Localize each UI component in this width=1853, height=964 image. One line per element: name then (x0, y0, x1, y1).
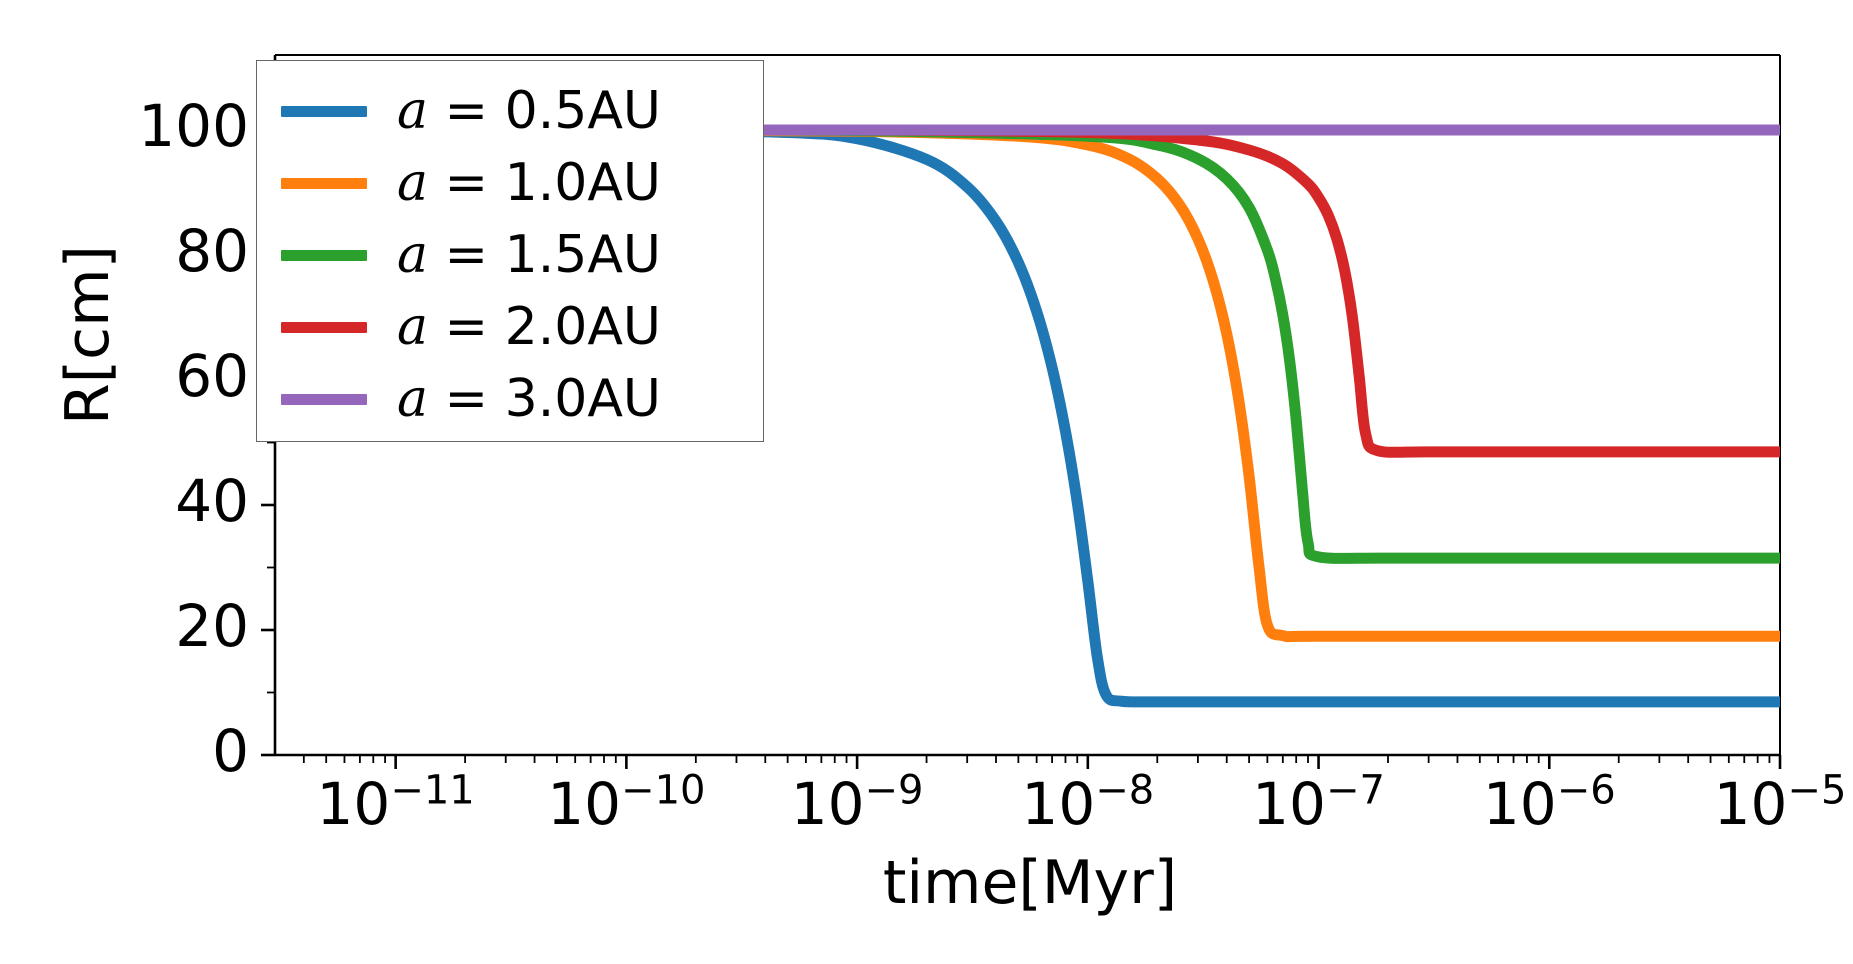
legend-variable: a (397, 297, 428, 357)
legend-label: a = 0.5AU (397, 81, 661, 141)
legend-color-swatch (281, 250, 367, 261)
legend-color-swatch (281, 394, 367, 405)
x-tick-exponent: −9 (865, 768, 924, 814)
y-tick-label: 40 (0, 472, 249, 530)
legend-entry[interactable]: a = 2.0AU (257, 291, 763, 363)
legend-color-swatch (281, 178, 367, 189)
legend-variable: a (397, 153, 428, 213)
legend-color-swatch (281, 106, 367, 117)
x-tick-exponent: −8 (1095, 768, 1154, 814)
legend-entry[interactable]: a = 1.5AU (257, 219, 763, 291)
legend-variable: a (397, 369, 428, 429)
legend-entry[interactable]: a = 1.0AU (257, 147, 763, 219)
legend-color-swatch (281, 322, 367, 333)
x-tick-exponent: −6 (1557, 768, 1616, 814)
legend-variable: a (397, 81, 428, 141)
legend-variable: a (397, 225, 428, 285)
y-tick-label: 0 (0, 722, 249, 780)
y-tick-label: 100 (0, 97, 249, 155)
x-tick-label: 10−5 (1630, 775, 1853, 833)
x-tick-base: 10 (1714, 770, 1788, 838)
x-tick-exponent: −5 (1787, 768, 1846, 814)
legend-label: a = 1.0AU (397, 153, 661, 213)
x-tick-base: 10 (791, 770, 865, 838)
x-tick-base: 10 (1483, 770, 1557, 838)
y-tick-label: 60 (0, 347, 249, 405)
legend-label: a = 2.0AU (397, 297, 661, 357)
legend-box: a = 0.5AUa = 1.0AUa = 1.5AUa = 2.0AUa = … (256, 60, 764, 442)
figure-canvas: R[cm] time[Myr] a = 0.5AUa = 1.0AUa = 1.… (0, 0, 1853, 964)
x-tick-exponent: −11 (390, 768, 474, 814)
y-tick-label: 80 (0, 222, 249, 280)
legend-entry[interactable]: a = 0.5AU (257, 75, 763, 147)
legend-entry[interactable]: a = 3.0AU (257, 363, 763, 435)
x-tick-base: 10 (1021, 770, 1095, 838)
x-tick-base: 10 (547, 770, 621, 838)
x-axis-label: time[Myr] (0, 848, 1853, 918)
x-tick-exponent: −10 (621, 768, 705, 814)
legend-label: a = 1.5AU (397, 225, 661, 285)
x-tick-base: 10 (1252, 770, 1326, 838)
x-tick-base: 10 (317, 770, 391, 838)
x-tick-exponent: −7 (1326, 768, 1385, 814)
y-tick-label: 20 (0, 597, 249, 655)
legend-label: a = 3.0AU (397, 369, 661, 429)
